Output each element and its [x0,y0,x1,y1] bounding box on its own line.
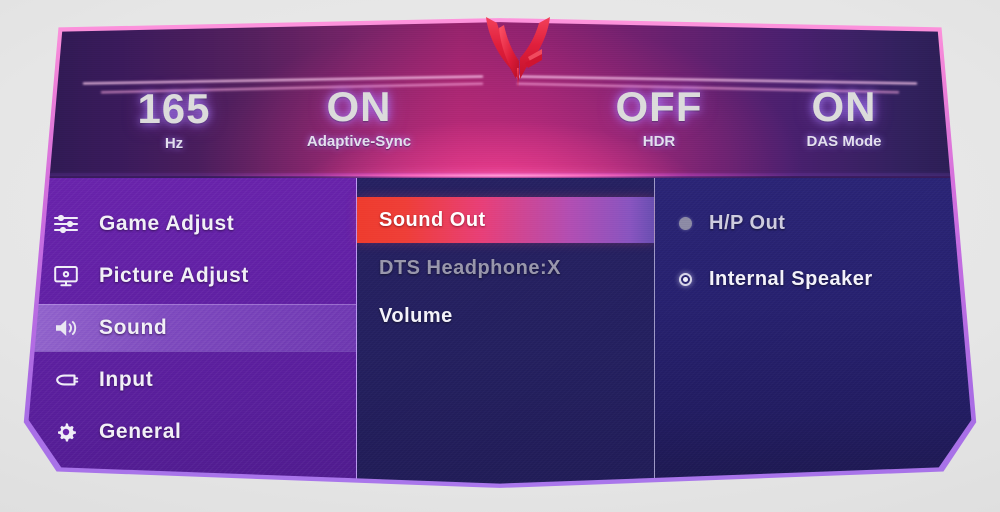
gear-icon [53,420,79,444]
radio-unselected-icon[interactable] [679,217,692,230]
sidebar-item-game-adjust-label: Game Adjust [99,212,234,236]
status-das-mode: ON DAS Mode [754,85,934,150]
status-adaptive-sync: ON Adaptive-Sync [269,85,449,150]
sidebar-item-picture-adjust-label: Picture Adjust [99,264,249,288]
sidebar-item-picture-adjust[interactable]: Picture Adjust [21,252,356,300]
option-hp-out-label: H/P Out [709,212,785,235]
sidebar-item-general[interactable]: General [21,408,356,456]
speaker-icon [53,316,79,340]
sliders-icon [53,212,79,236]
options-column: H/P Out Internal Speaker [655,178,979,485]
submenu-item-volume[interactable]: Volume [357,293,654,339]
osd-panel: 165 Hz ON Adaptive-Sync OFF HDR ON DAS M… [18,18,982,488]
status-hdr-label: HDR [569,133,749,150]
option-hp-out[interactable]: H/P Out [655,202,979,244]
submenu-item-dts-headphone-x-label: DTS Headphone:X [379,257,561,280]
status-refresh-rate: 165 Hz [84,87,264,152]
lg-ultragear-logo-icon [470,8,566,92]
option-internal-speaker[interactable]: Internal Speaker [655,258,979,300]
osd-menu-area: Game Adjust Picture Adjust [21,178,979,485]
submenu-column: Sound Out DTS Headphone:X Volume [357,178,655,485]
sidebar-item-game-adjust[interactable]: Game Adjust [21,200,356,248]
sidebar: Game Adjust Picture Adjust [21,178,357,485]
submenu-item-dts-headphone-x[interactable]: DTS Headphone:X [357,245,654,291]
sidebar-item-sound-label: Sound [99,316,167,340]
sidebar-item-input[interactable]: Input [21,356,356,404]
option-internal-speaker-label: Internal Speaker [709,268,873,291]
status-hdr: OFF HDR [569,85,749,150]
status-refresh-rate-value: 165 [84,87,264,131]
status-das-mode-value: ON [754,85,934,129]
submenu-item-sound-out[interactable]: Sound Out [357,197,654,243]
plug-icon [53,368,79,392]
status-hdr-value: OFF [569,85,749,129]
status-adaptive-sync-value: ON [269,85,449,129]
sidebar-item-sound[interactable]: Sound [21,304,356,352]
sidebar-item-general-label: General [99,420,181,444]
status-adaptive-sync-label: Adaptive-Sync [269,133,449,150]
submenu-item-volume-label: Volume [379,305,453,328]
monitor-gear-icon [53,264,79,288]
status-refresh-rate-label: Hz [84,135,264,152]
radio-selected-icon[interactable] [679,273,692,286]
status-das-mode-label: DAS Mode [754,133,934,150]
submenu-item-sound-out-label: Sound Out [379,209,486,232]
sidebar-item-input-label: Input [99,368,153,392]
